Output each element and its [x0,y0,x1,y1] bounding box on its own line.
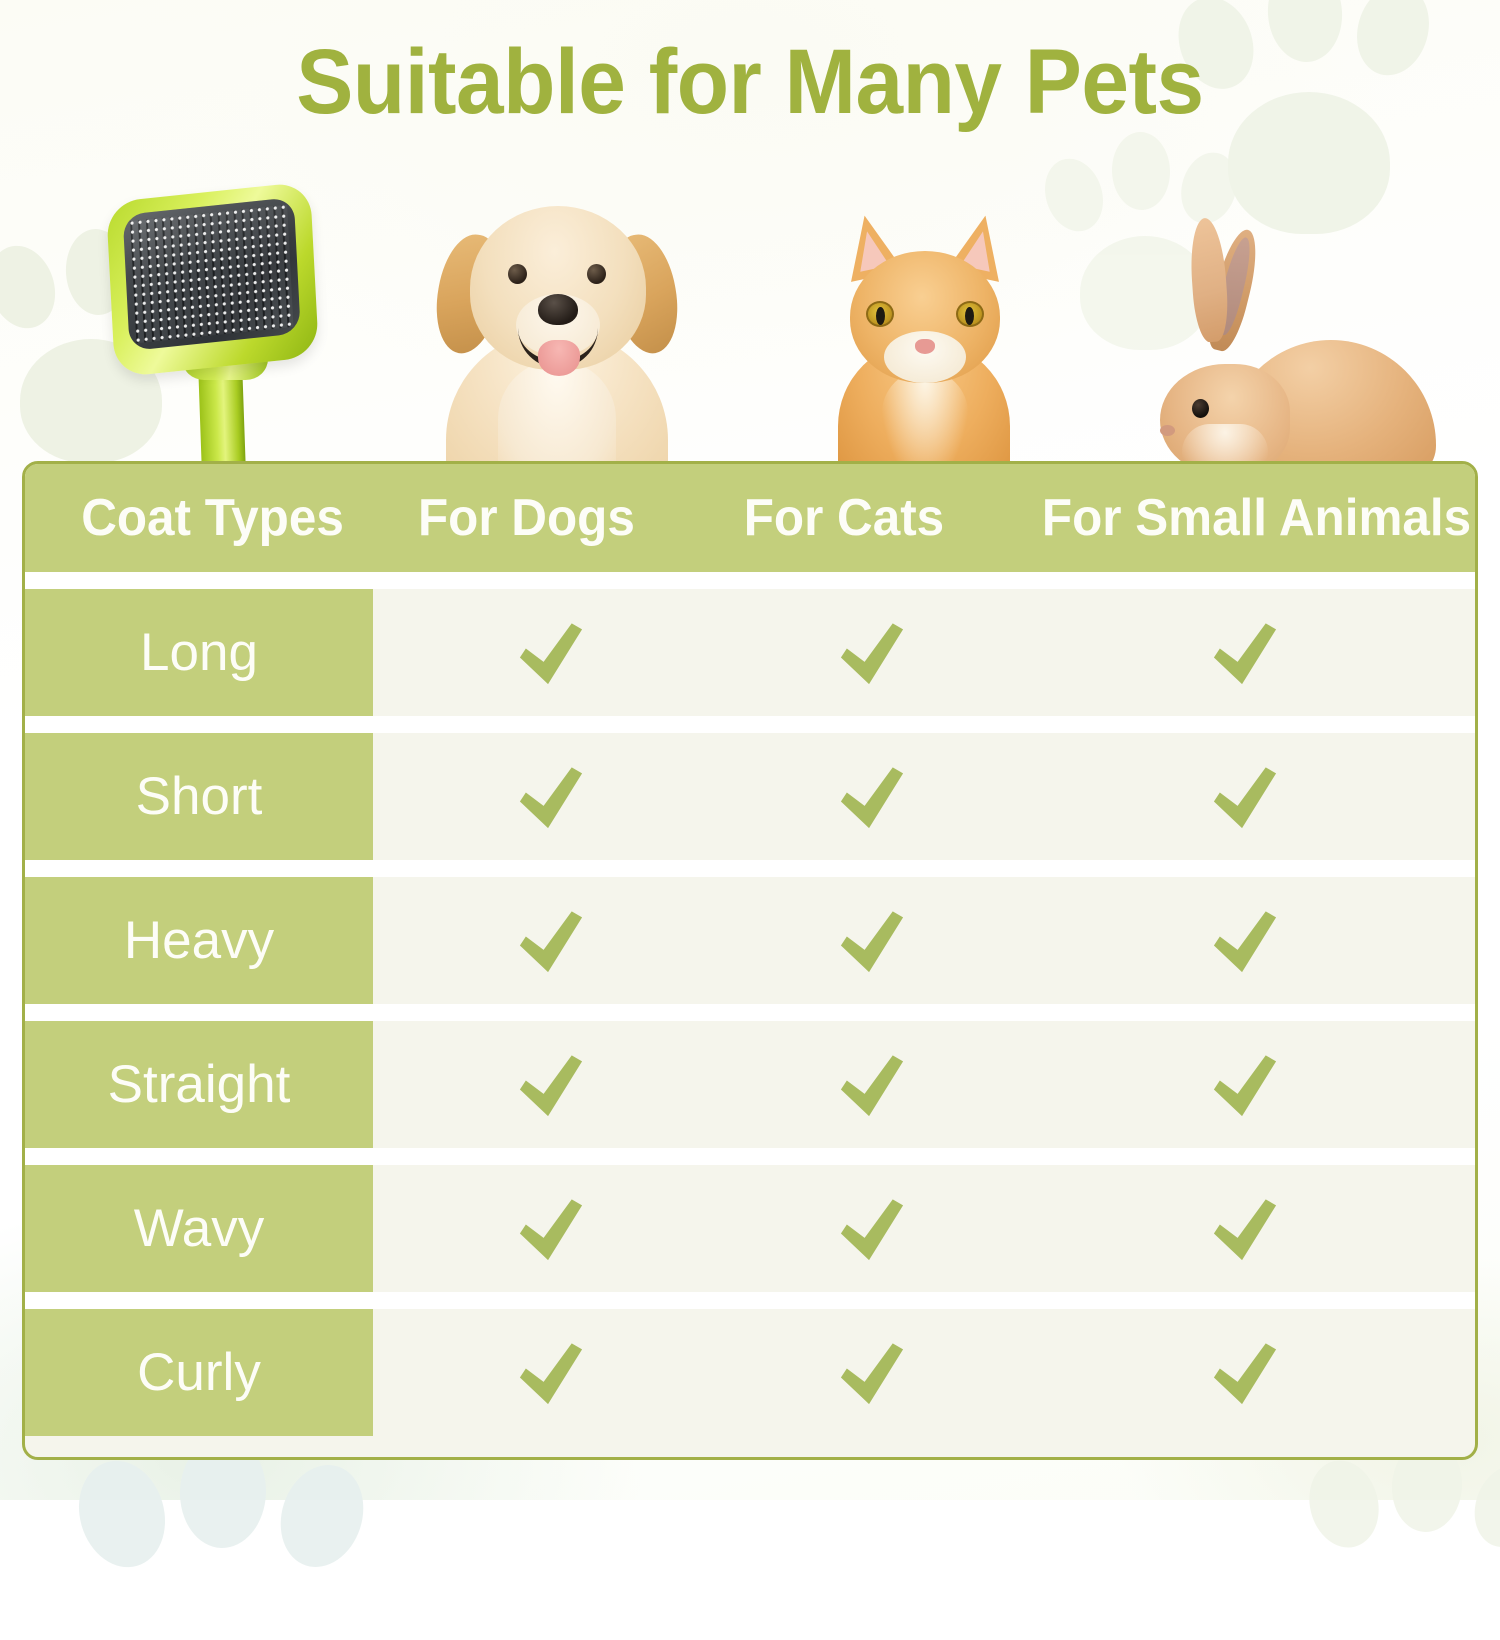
check-icon [1208,1048,1282,1122]
cell-long-for-small-animals [1015,589,1475,716]
cell-wavy-for-dogs [373,1165,729,1292]
slicker-brush-icon [96,190,346,490]
check-icon [1208,1192,1282,1266]
cell-straight-for-dogs [373,1021,729,1148]
cell-curly-for-cats [729,1309,1015,1436]
cell-curly-for-small-animals [1015,1309,1475,1436]
cell-long-for-cats [729,589,1015,716]
table-row: Short [25,733,1475,860]
dog-photo [412,190,702,480]
check-icon [835,616,909,690]
row-divider [25,572,1475,589]
cell-wavy-for-small-animals [1015,1165,1475,1292]
cell-wavy-for-cats [729,1165,1015,1292]
check-icon [1208,616,1282,690]
cell-short-for-dogs [373,733,729,860]
check-icon [514,1192,588,1266]
check-icon [1208,760,1282,834]
column-header-coat-types: Coat Types [34,488,365,548]
brush-head [106,181,319,377]
table-header-row: Coat Types For Dogs For Cats For Small A… [25,464,1475,572]
row-label-curly: Curly [25,1309,373,1436]
check-icon [1208,904,1282,978]
table-row: Curly [25,1309,1475,1436]
row-divider [25,716,1475,733]
cat-pupil-right [965,307,974,325]
paw-print-watermark [1300,1442,1500,1602]
table-row: Long [25,589,1475,716]
row-label-heavy: Heavy [25,877,373,1004]
cell-heavy-for-dogs [373,877,729,1004]
row-divider [25,860,1475,877]
dog-eye-right [587,264,606,284]
table-body: LongShortHeavyStraightWavyCurly [25,572,1475,1436]
check-icon [514,760,588,834]
check-icon [1208,1336,1282,1410]
check-icon [514,616,588,690]
hero-image-strip [0,150,1500,480]
check-icon [835,904,909,978]
row-label-short: Short [25,733,373,860]
check-icon [514,1048,588,1122]
check-icon [514,1336,588,1410]
page-title: Suitable for Many Pets [53,36,1448,128]
cat-nose [915,339,935,354]
rabbit-ear-front [1188,217,1231,343]
dog-tongue [538,340,580,376]
row-label-wavy: Wavy [25,1165,373,1292]
cell-heavy-for-small-animals [1015,877,1475,1004]
rabbit-nose [1160,425,1175,436]
table-row: Heavy [25,877,1475,1004]
dog-nose [538,294,578,325]
cell-straight-for-small-animals [1015,1021,1475,1148]
paw-print-watermark [60,1440,360,1640]
table-row: Straight [25,1021,1475,1148]
dog-eye-left [508,264,527,284]
cat-photo [800,215,1050,480]
compatibility-table: Coat Types For Dogs For Cats For Small A… [22,461,1478,1460]
cell-short-for-small-animals [1015,733,1475,860]
check-icon [835,760,909,834]
table-row: Wavy [25,1165,1475,1292]
cell-curly-for-dogs [373,1309,729,1436]
column-header-for-small-animals: For Small Animals [1027,488,1471,548]
check-icon [514,904,588,978]
rabbit-eye [1192,399,1209,418]
row-divider [25,1292,1475,1309]
column-header-for-dogs: For Dogs [382,488,720,548]
cell-heavy-for-cats [729,877,1015,1004]
row-label-straight: Straight [25,1021,373,1148]
cell-long-for-dogs [373,589,729,716]
brush-pin-pad [123,197,301,351]
row-label-long: Long [25,589,373,716]
check-icon [835,1048,909,1122]
check-icon [835,1336,909,1410]
column-header-for-cats: For Cats [736,488,1008,548]
row-divider [25,1148,1475,1165]
row-divider [25,1004,1475,1021]
cell-short-for-cats [729,733,1015,860]
cell-straight-for-cats [729,1021,1015,1148]
rabbit-photo [1150,280,1440,480]
cat-pupil-left [876,307,885,325]
check-icon [835,1192,909,1266]
